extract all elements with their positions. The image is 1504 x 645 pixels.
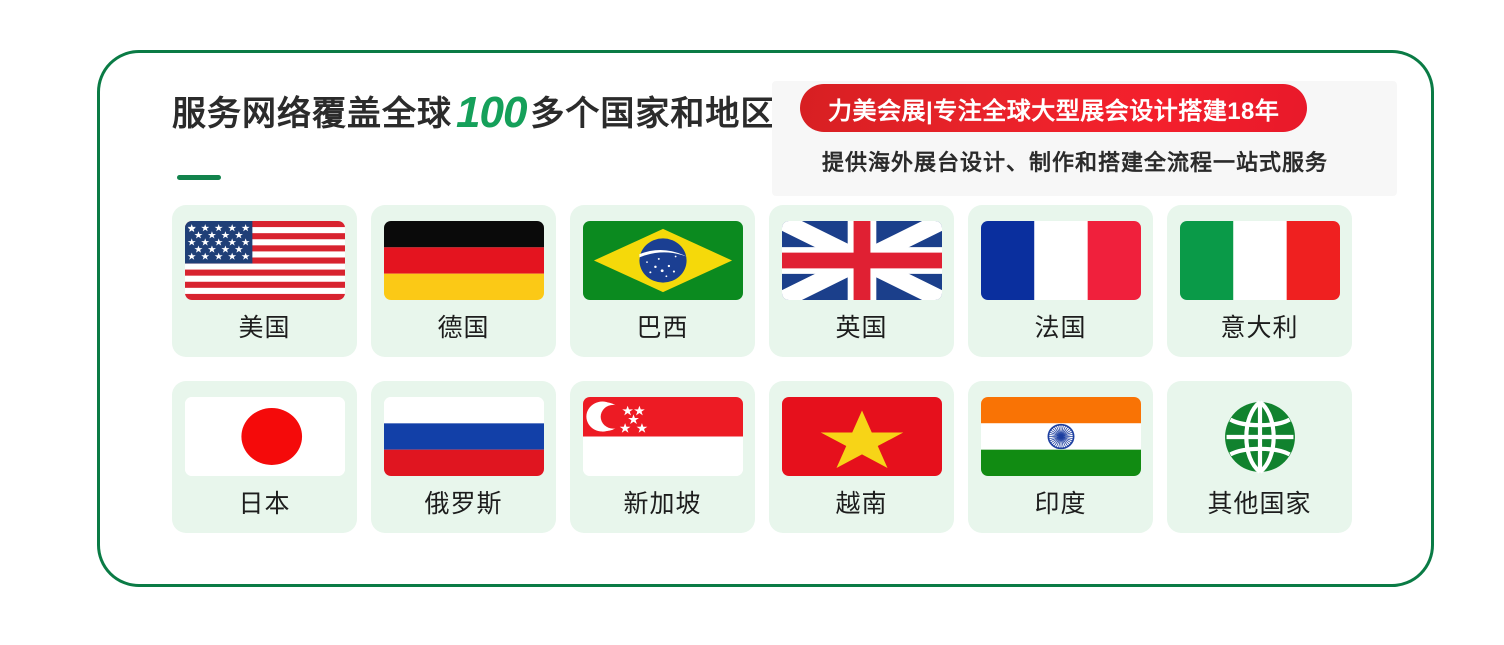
de-flag-icon <box>384 221 544 300</box>
country-label: 德国 <box>437 316 489 341</box>
title-accent-bar <box>177 175 221 180</box>
sg-flag-icon <box>583 397 743 476</box>
us-flag-icon <box>185 221 345 300</box>
headline-prefix: 服务网络覆盖全球 <box>172 95 452 133</box>
country-card-vn[interactable]: 越南 <box>769 381 954 533</box>
promo-badge-label: 力美会展|专注全球大型展会设计搭建18年 <box>828 91 1279 126</box>
country-card-ru[interactable]: 俄罗斯 <box>371 381 556 533</box>
country-label: 日本 <box>238 492 290 517</box>
country-card-jp[interactable]: 日本 <box>172 381 357 533</box>
country-card-other[interactable]: 其他国家 <box>1167 381 1352 533</box>
promo-block: 力美会展|专注全球大型展会设计搭建18年 提供海外展台设计、制作和搭建全流程一站… <box>772 81 1397 196</box>
country-card-fr[interactable]: 法国 <box>968 205 1153 357</box>
page-title: 服务网络覆盖全球100多个国家和地区 <box>172 91 775 135</box>
country-card-br[interactable]: 巴西 <box>570 205 755 357</box>
gb-flag-icon <box>782 221 942 300</box>
globe-icon <box>1180 397 1340 476</box>
country-label: 意大利 <box>1220 316 1298 341</box>
country-card-sg[interactable]: 新加坡 <box>570 381 755 533</box>
country-card-us[interactable]: 美国 <box>172 205 357 357</box>
br-flag-icon <box>583 221 743 300</box>
vn-flag-icon <box>782 397 942 476</box>
country-label: 新加坡 <box>623 492 701 517</box>
headline-suffix: 多个国家和地区 <box>530 95 775 133</box>
country-card-gb[interactable]: 英国 <box>769 205 954 357</box>
country-card-de[interactable]: 德国 <box>371 205 556 357</box>
fr-flag-icon <box>981 221 1141 300</box>
country-label: 越南 <box>835 492 887 517</box>
country-label: 俄罗斯 <box>424 492 502 517</box>
ru-flag-icon <box>384 397 544 476</box>
promo-banner: 服务网络覆盖全球100多个国家和地区 力美会展|专注全球大型展会设计搭建18年 … <box>0 0 1504 645</box>
country-label: 法国 <box>1034 316 1086 341</box>
header-section: 服务网络覆盖全球100多个国家和地区 力美会展|专注全球大型展会设计搭建18年 … <box>100 53 1437 203</box>
in-flag-icon <box>981 397 1141 476</box>
jp-flag-icon <box>185 397 345 476</box>
headline-number: 100 <box>452 88 530 137</box>
it-flag-icon <box>1180 221 1340 300</box>
country-card-it[interactable]: 意大利 <box>1167 205 1352 357</box>
country-label: 印度 <box>1034 492 1086 517</box>
promo-badge[interactable]: 力美会展|专注全球大型展会设计搭建18年 <box>800 84 1307 132</box>
country-label: 巴西 <box>636 316 688 341</box>
country-label: 美国 <box>238 316 290 341</box>
country-label: 其他国家 <box>1207 492 1311 517</box>
content-frame: 服务网络覆盖全球100多个国家和地区 力美会展|专注全球大型展会设计搭建18年 … <box>97 50 1434 587</box>
country-label: 英国 <box>835 316 887 341</box>
country-card-in[interactable]: 印度 <box>968 381 1153 533</box>
promo-subtitle: 提供海外展台设计、制作和搭建全流程一站式服务 <box>822 145 1328 177</box>
country-grid: 美国 德国 <box>172 205 1367 533</box>
